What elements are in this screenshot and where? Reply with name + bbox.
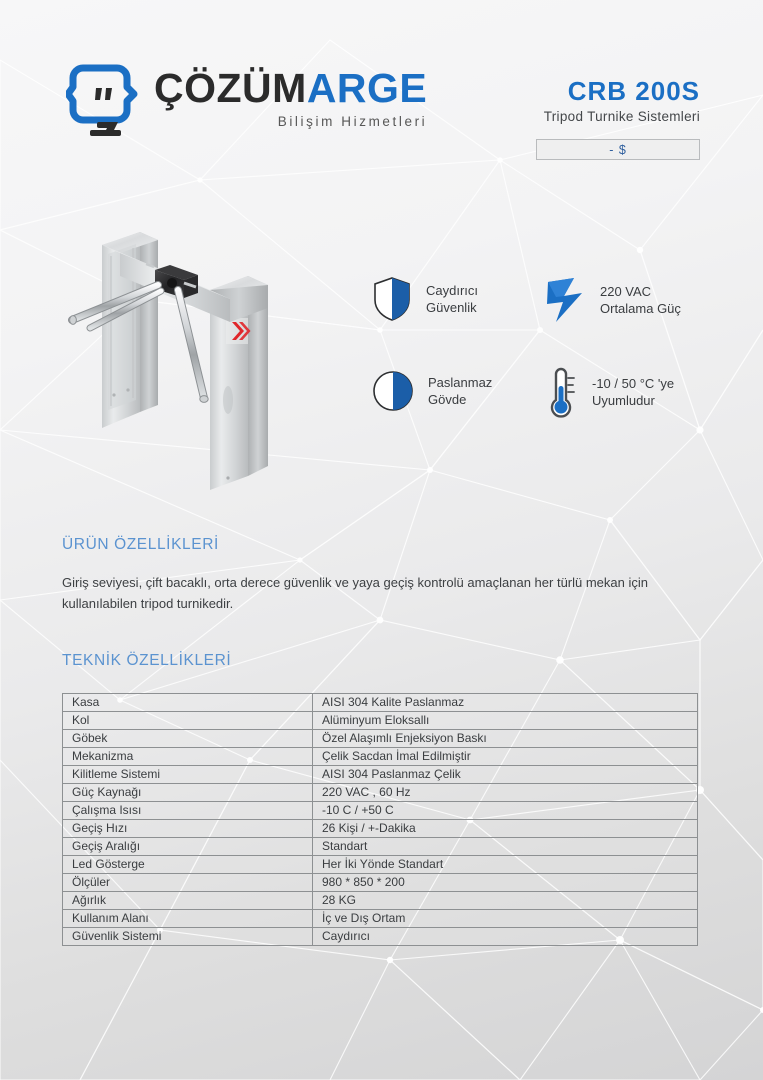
table-row: Ölçüler980 * 850 * 200 [63, 874, 698, 892]
specifications-table-body: KasaAISI 304 Kalite PaslanmazKolAlüminyu… [63, 694, 698, 946]
brand-logo: ÇÖZÜMARGE Bilişim Hizmetleri [66, 56, 427, 144]
spec-label: Kullanım Alanı [63, 910, 313, 928]
table-row: Güvenlik SistemiCaydırıcı [63, 928, 698, 946]
spec-label: Ölçüler [63, 874, 313, 892]
feature-label-security: CaydırıcıGüvenlik [426, 282, 478, 316]
spec-value: 28 KG [313, 892, 698, 910]
feature-item-security: CaydırıcıGüvenlik [372, 276, 478, 322]
product-section-heading: ÜRÜN ÖZELLİKLERİ [62, 536, 219, 554]
speech-bracket-quote-icon [66, 56, 144, 144]
table-row: Geçiş Hızı26 Kişi / +-Dakika [63, 820, 698, 838]
table-row: GöbekÖzel Alaşımlı Enjeksiyon Baskı [63, 730, 698, 748]
spec-label: Güvenlik Sistemi [63, 928, 313, 946]
spec-value: 26 Kişi / +-Dakika [313, 820, 698, 838]
table-row: Güç Kaynağı220 VAC , 60 Hz [63, 784, 698, 802]
spec-value: Her İki Yönde Standart [313, 856, 698, 874]
spec-value: Özel Alaşımlı Enjeksiyon Baskı [313, 730, 698, 748]
spec-value: -10 C / +50 C [313, 802, 698, 820]
spec-label: Ağırlık [63, 892, 313, 910]
spec-label: Göbek [63, 730, 313, 748]
specifications-table: KasaAISI 304 Kalite PaslanmazKolAlüminyu… [62, 693, 698, 946]
spec-value: 220 VAC , 60 Hz [313, 784, 698, 802]
feature-label-power: 220 VACOrtalama Güç [600, 283, 681, 317]
spec-label: Çalışma Isısı [63, 802, 313, 820]
product-description: Giriş seviyesi, çift bacaklı, orta derec… [62, 572, 687, 614]
feature-item-power: 220 VACOrtalama Güç [544, 276, 681, 324]
model-header: CRB 200S Tripod Turnike Sistemleri - $ [400, 78, 700, 160]
half-circle-icon [372, 370, 414, 412]
feature-item-temperature: -10 / 50 °C 'yeUyumludur [544, 364, 674, 420]
spec-value: AISI 304 Kalite Paslanmaz [313, 694, 698, 712]
feature-item-body: PaslanmazGövde [372, 370, 492, 412]
table-row: Geçiş AralığıStandart [63, 838, 698, 856]
spec-value: AISI 304 Paslanmaz Çelik [313, 766, 698, 784]
wordmark-dark: ÇÖZÜM [154, 65, 307, 111]
table-row: KasaAISI 304 Kalite Paslanmaz [63, 694, 698, 712]
price-box[interactable]: - $ [536, 139, 700, 160]
spec-value: Çelik Sacdan İmal Edilmiştir [313, 748, 698, 766]
brand-text: ÇÖZÜMARGE Bilişim Hizmetleri [154, 56, 427, 129]
feature-list: CaydırıcıGüvenlik 220 VACOrtalama Güç Pa… [372, 272, 722, 447]
spec-value: Standart [313, 838, 698, 856]
table-row: Led GöstergeHer İki Yönde Standart [63, 856, 698, 874]
feature-label-body: PaslanmazGövde [428, 374, 492, 408]
spec-value: 980 * 850 * 200 [313, 874, 698, 892]
feature-label-temperature: -10 / 50 °C 'yeUyumludur [592, 375, 674, 409]
spec-value: Caydırıcı [313, 928, 698, 946]
brand-tagline: Bilişim Hizmetleri [154, 114, 427, 129]
spec-label: Led Gösterge [63, 856, 313, 874]
table-row: KolAlüminyum Eloksallı [63, 712, 698, 730]
spec-label: Mekanizma [63, 748, 313, 766]
spec-label: Geçiş Hızı [63, 820, 313, 838]
red-chevron-icon [226, 318, 251, 344]
table-row: MekanizmaÇelik Sacdan İmal Edilmiştir [63, 748, 698, 766]
shield-icon [372, 276, 412, 322]
spec-value: Alüminyum Eloksallı [313, 712, 698, 730]
model-subtitle: Tripod Turnike Sistemleri [400, 109, 700, 124]
spec-label: Geçiş Aralığı [63, 838, 313, 856]
brand-wordmark: ÇÖZÜMARGE [154, 68, 427, 109]
product-photo-tripod-turnstile [62, 190, 347, 505]
thermometer-icon [544, 364, 578, 420]
spec-label: Kol [63, 712, 313, 730]
spec-label: Güç Kaynağı [63, 784, 313, 802]
lightning-icon [544, 276, 586, 324]
table-row: Kilitleme SistemiAISI 304 Paslanmaz Çeli… [63, 766, 698, 784]
table-row: Kullanım Alanıİç ve Dış Ortam [63, 910, 698, 928]
table-row: Ağırlık28 KG [63, 892, 698, 910]
spec-label: Kasa [63, 694, 313, 712]
model-name: CRB 200S [400, 78, 700, 105]
spec-value: İç ve Dış Ortam [313, 910, 698, 928]
datasheet-page: ÇÖZÜMARGE Bilişim Hizmetleri CRB 200S Tr… [0, 0, 763, 1080]
tech-section-heading: TEKNİK ÖZELLİKLERİ [62, 652, 231, 670]
table-row: Çalışma Isısı-10 C / +50 C [63, 802, 698, 820]
spec-label: Kilitleme Sistemi [63, 766, 313, 784]
page-header: ÇÖZÜMARGE Bilişim Hizmetleri CRB 200S Tr… [0, 52, 763, 172]
